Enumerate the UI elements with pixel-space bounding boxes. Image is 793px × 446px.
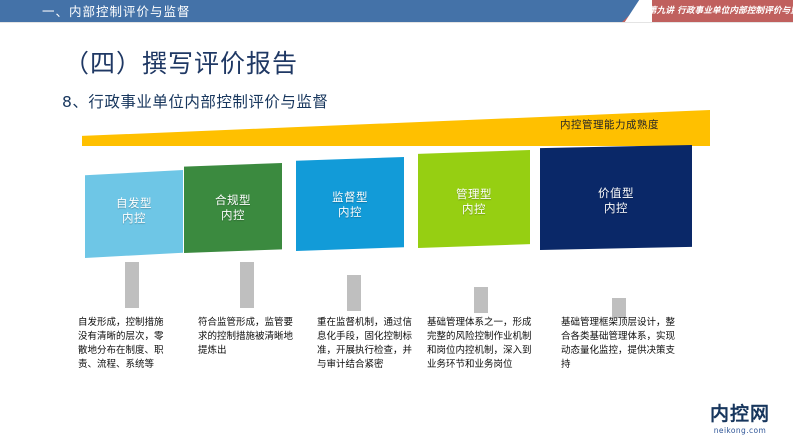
arrow-up-icon-2	[240, 262, 254, 308]
arrow-shaft-1	[129, 270, 135, 308]
slide-canvas: 一、内部控制评价与监督 第九讲 行政事业单位内部控制评价与监督 （四）撰写评价报…	[0, 0, 793, 446]
stage-block-1-label-line1: 自发型	[85, 196, 183, 211]
stage-block-1-label-line2: 内控	[85, 211, 183, 226]
stage-block-5[interactable]: 价值型 内控	[540, 145, 692, 250]
arrow-shaft-3	[351, 283, 357, 311]
stage-block-5-label-line2: 内控	[540, 201, 692, 216]
stage-block-3-label-line1: 监督型	[296, 190, 404, 205]
arrow-shaft-4	[478, 295, 484, 313]
stage-description-3: 重在监督机制，通过信息化手段，固化控制标准，开展执行检查，并与审计结合紧密	[317, 316, 413, 372]
stage-description-1: 自发形成，控制措施没有清晰的层次，零散地分布在制度、职责、流程、系统等	[78, 316, 170, 372]
maturity-stage-blocks: 自发型 内控 合规型 内控 监督型 内控 管理型 内控 价值型	[0, 0, 793, 446]
stage-description-5: 基础管理框架顶层设计，整合各类基础管理体系，实现动态量化监控，提供决策支持	[561, 316, 681, 372]
stage-block-4[interactable]: 管理型 内控	[418, 150, 530, 248]
arrow-up-icon-3	[347, 275, 361, 311]
arrow-shaft-2	[244, 270, 250, 308]
stage-block-2[interactable]: 合规型 内控	[184, 163, 282, 253]
stage-description-2: 符合监管形成，监管要求的控制措施被清晰地提炼出	[198, 316, 298, 358]
stage-block-3-label: 监督型 内控	[296, 190, 404, 220]
stage-description-4: 基础管理体系之一，形成完整的风险控制作业机制和岗位内控机制，深入到业务环节和业务…	[427, 316, 535, 372]
stage-block-4-label-line1: 管理型	[418, 187, 530, 202]
stage-block-4-label: 管理型 内控	[418, 187, 530, 217]
arrow-up-icon-1	[125, 262, 139, 308]
site-logo-domain: neikong.com	[696, 425, 784, 436]
stage-block-1-label: 自发型 内控	[85, 196, 183, 226]
stage-block-3-label-line2: 内控	[296, 205, 404, 220]
stage-block-5-label-line1: 价值型	[540, 186, 692, 201]
site-logo: 内控网 neikong.com	[696, 403, 784, 436]
stage-block-3[interactable]: 监督型 内控	[296, 157, 404, 251]
stage-block-4-label-line2: 内控	[418, 202, 530, 217]
stage-block-2-label-line1: 合规型	[184, 193, 282, 208]
stage-block-2-label: 合规型 内控	[184, 193, 282, 223]
arrow-up-icon-5	[612, 298, 626, 318]
site-logo-name: 内控网	[696, 403, 784, 425]
stage-block-2-label-line2: 内控	[184, 208, 282, 223]
stage-block-1[interactable]: 自发型 内控	[85, 170, 183, 258]
arrow-up-icon-4	[474, 287, 488, 313]
stage-block-5-label: 价值型 内控	[540, 186, 692, 216]
